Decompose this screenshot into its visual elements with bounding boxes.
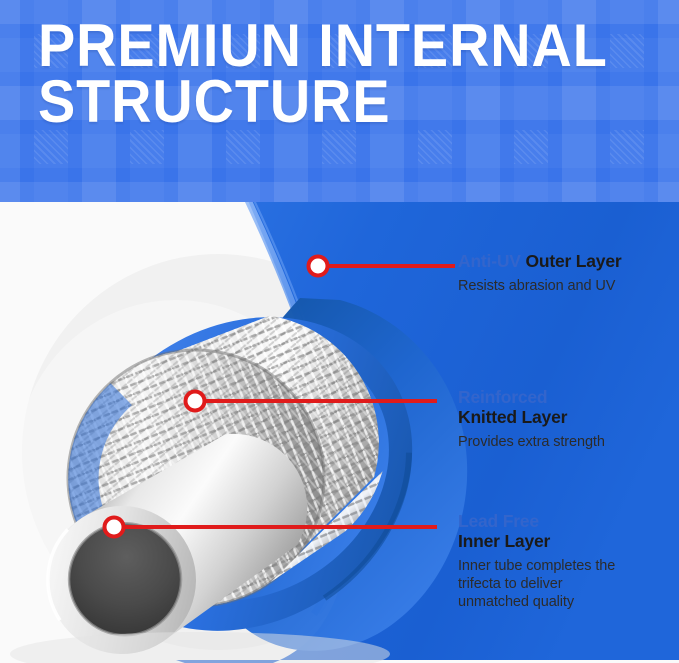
callout-labels: Anti-UV Outer Layer Resists abrasion and… [458,202,679,663]
callout-accent-outer-layer: Anti-UV [458,251,521,271]
callout-accent-knitted-layer: Reinforced [458,387,547,407]
callout-title-inner-layer: Lead FreeInner Layer [458,512,679,552]
page-title: PREMIUN INTERNAL STRUCTURE [38,18,619,131]
callout-accent-inner-layer: Lead Free [458,511,539,531]
callout-inner-layer: Lead FreeInner Layer Inner tube complete… [458,512,679,612]
infographic-root: PREMIUN INTERNAL STRUCTURE [0,0,679,663]
header-banner: PREMIUN INTERNAL STRUCTURE [0,0,679,202]
callout-name-inner-layer: Inner Layer [458,532,679,552]
callout-title-outer-layer: Anti-UV Outer Layer [458,252,679,272]
callout-knitted-layer: ReinforcedKnitted Layer Provides extra s… [458,388,679,451]
callout-description-outer-layer: Resists abrasion and UV [458,277,679,295]
callout-name-knitted-layer: Knitted Layer [458,408,679,428]
callout-outer-layer: Anti-UV Outer Layer Resists abrasion and… [458,252,679,295]
callout-description-knitted-layer: Provides extra strength [458,433,679,451]
callout-name-outer-layer: Outer Layer [525,251,621,271]
callout-description-inner-layer: Inner tube completes the trifecta to del… [458,557,679,612]
callout-title-knitted-layer: ReinforcedKnitted Layer [458,388,679,428]
